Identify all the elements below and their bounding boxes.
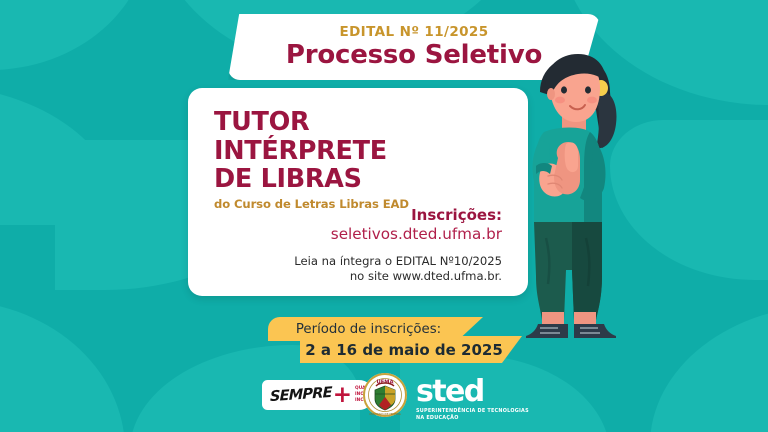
pattern-blob <box>0 0 150 70</box>
sempre-wordmark: SEMPRE <box>270 385 332 405</box>
edital-number: EDITAL Nº 11/2025 <box>339 25 488 40</box>
sempre-mais-logo: SEMPRE + QUALIDADE INOVAÇÃO INCLUSÃO <box>262 380 374 410</box>
sted-subtitle-line-2: NA EDUCAÇÃO <box>416 415 529 422</box>
sted-logo: sted SUPERINTENDÊNCIA DE TECNOLOGIAS NA … <box>416 378 529 422</box>
svg-text:UNIVERSIDADE FEDERAL: UNIVERSIDADE FEDERAL <box>369 412 402 416</box>
ufma-seal-logo: UFMA UNIVERSIDADE FEDERAL <box>362 372 408 418</box>
sted-subtitle: SUPERINTENDÊNCIA DE TECNOLOGIAS NA EDUCA… <box>416 408 529 423</box>
period-ribbon-bottom: 2 a 16 de maio de 2025 <box>300 336 522 363</box>
poster-canvas: EDITAL Nº 11/2025 Processo Seletivo TUTO… <box>0 0 768 432</box>
registration-url[interactable]: seletivos.dted.ufma.br <box>262 225 502 245</box>
period-label: Período de inscrições: <box>296 322 455 337</box>
main-content-card: TUTOR INTÉRPRETE DE LIBRAS do Curso de L… <box>188 88 528 296</box>
footer-logos: SEMPRE + QUALIDADE INOVAÇÃO INCLUSÃO UFM… <box>0 370 768 426</box>
job-title-line-1: TUTOR <box>214 110 504 136</box>
job-title-block: TUTOR INTÉRPRETE DE LIBRAS do Curso de L… <box>214 110 504 210</box>
sted-subtitle-line-1: SUPERINTENDÊNCIA DE TECNOLOGIAS <box>416 408 529 415</box>
period-dates: 2 a 16 de maio de 2025 <box>305 341 517 359</box>
registration-note: Leia na íntegra o EDITAL Nº10/2025 no si… <box>262 254 502 285</box>
job-title-line-2: INTÉRPRETE <box>214 139 504 165</box>
job-title-line-3: DE LIBRAS <box>214 167 504 193</box>
sted-wordmark: sted <box>416 378 529 407</box>
registration-note-line-2: no site www.dted.ufma.br. <box>262 269 502 285</box>
registration-note-line-1: Leia na íntegra o EDITAL Nº10/2025 <box>262 254 502 270</box>
registration-label: Inscrições: <box>262 206 502 224</box>
woman-signing-illustration <box>496 48 646 338</box>
registration-block: Inscrições: seletivos.dted.ufma.br Leia … <box>262 206 502 285</box>
